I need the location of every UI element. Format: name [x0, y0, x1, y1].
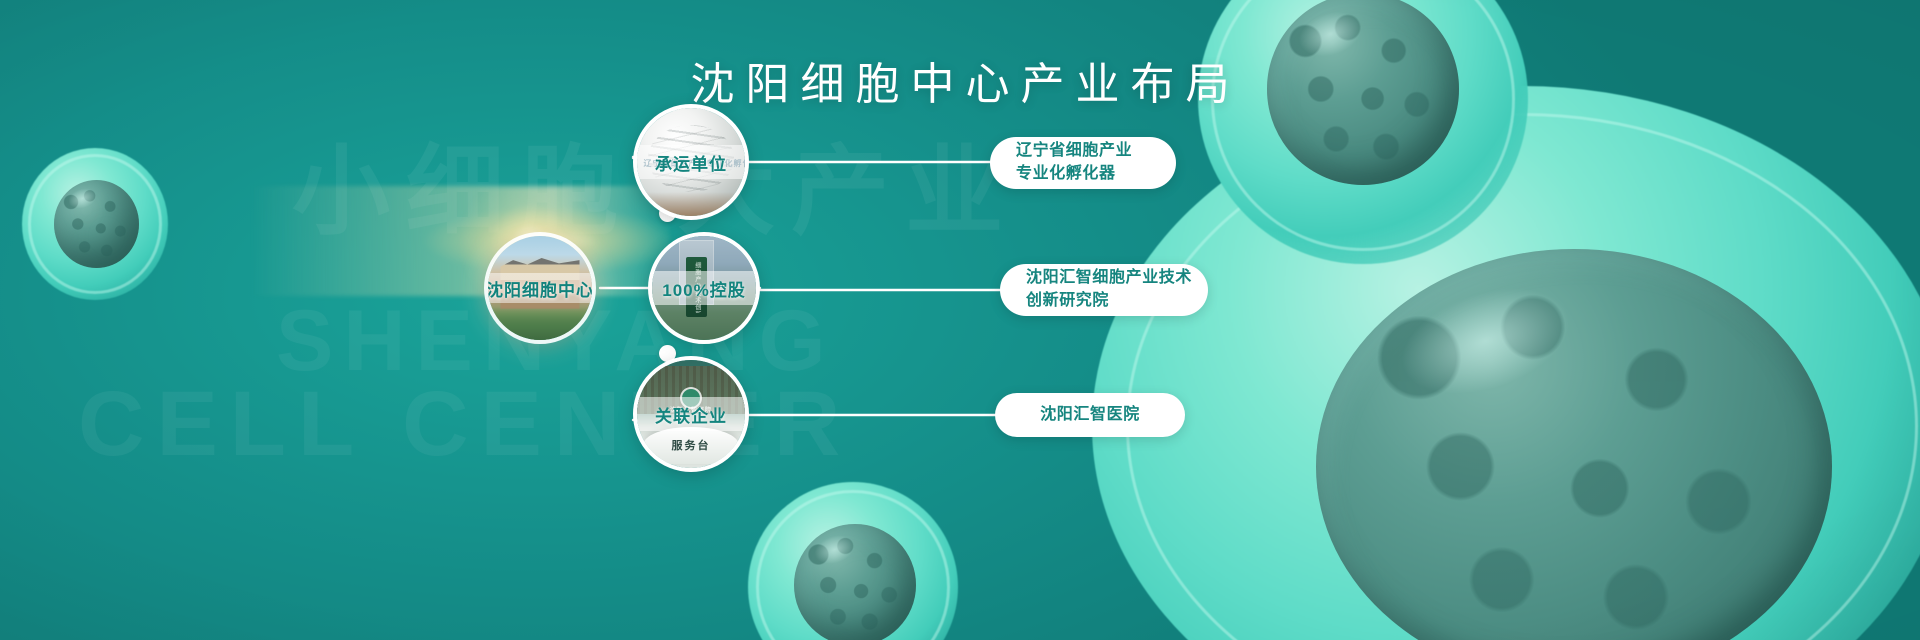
branch-node-related[interactable]: 沈阳汇智医院 关联企业 服务台	[633, 356, 749, 472]
hub-label: 沈阳细胞中心	[486, 276, 594, 301]
pill-line-1: 沈阳汇智医院	[1040, 404, 1140, 427]
pill-line-2: 专业化孵化器	[1016, 163, 1150, 186]
page-title: 沈阳细胞中心产业布局	[0, 48, 1920, 112]
branch-node-carrier[interactable]: 辽宁省细胞产业专业化孵化器 承运单位	[633, 104, 749, 220]
label-pill-incubator[interactable]: 辽宁省细胞产业 专业化孵化器	[990, 137, 1176, 189]
branch-node-label-related: 关联企业	[655, 402, 727, 427]
label-pill-hospital[interactable]: 沈阳汇智医院	[995, 393, 1185, 437]
hub-node-shenyang-cell-center[interactable]: 沈阳细胞中心	[484, 232, 596, 344]
branch-node-holding[interactable]: 沈阳汇智细胞产业技术创新研究院 100%控股	[648, 232, 760, 344]
pill-line-1: 沈阳汇智细胞产业技术	[1026, 267, 1182, 290]
label-pill-institute[interactable]: 沈阳汇智细胞产业技术 创新研究院	[1000, 264, 1208, 316]
pill-line-2: 创新研究院	[1026, 290, 1182, 313]
pill-line-1: 辽宁省细胞产业	[1016, 140, 1150, 163]
node-desk-text: 服务台	[637, 437, 745, 453]
branch-node-label-holding: 100%控股	[662, 276, 745, 301]
branch-node-label-carrier: 承运单位	[655, 150, 727, 175]
banner-stage: 小细胞 大产业 SHENYANG CELL CENTER 沈阳细胞中心产业布局 …	[0, 0, 1920, 640]
